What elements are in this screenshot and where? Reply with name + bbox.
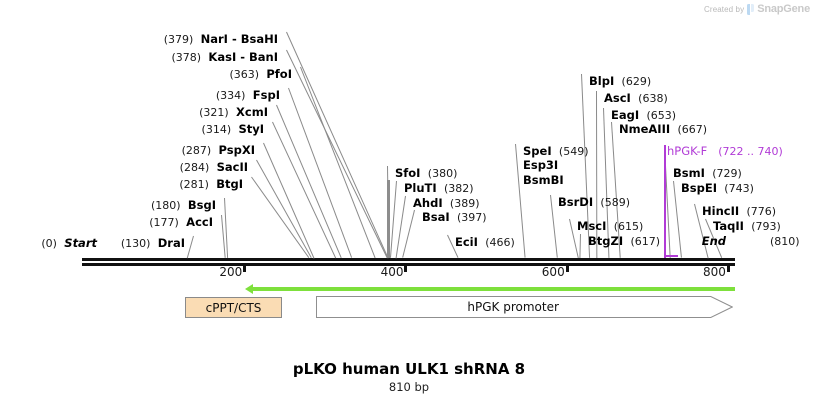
- site-position: (379): [164, 33, 194, 46]
- site-position: (389): [450, 197, 480, 210]
- plasmid-length: 810 bp: [0, 380, 818, 394]
- site-position: (667): [677, 123, 707, 136]
- site-name: HincII: [702, 204, 739, 218]
- restriction-site-label: AhdI (389): [413, 198, 480, 210]
- site-position: (653): [646, 109, 676, 122]
- site-name: BspEI: [681, 181, 717, 195]
- site-position: (380): [428, 167, 458, 180]
- site-position: (363): [229, 68, 259, 81]
- ruler-tick-label: 200: [219, 265, 242, 279]
- site-name: BsmI: [673, 166, 705, 180]
- start-position: (0): [41, 237, 57, 250]
- site-position: (743): [724, 182, 754, 195]
- site-leader-line: [187, 236, 194, 258]
- ruler-tick-label: 800: [703, 265, 726, 279]
- site-leader-line: [256, 160, 312, 258]
- site-position: (177): [149, 216, 179, 229]
- restriction-site-label: BsaI (397): [422, 212, 487, 224]
- restriction-site-label: (321) XcmI: [199, 107, 268, 119]
- ruler-tick: [243, 264, 246, 272]
- site-position: (382): [444, 182, 474, 195]
- site-position: (793): [751, 220, 781, 233]
- site-leader-line: [300, 67, 376, 258]
- primer-name: hPGK-F: [667, 144, 707, 158]
- restriction-site-label: BsmI (729): [673, 168, 742, 180]
- site-name: BtgZI: [588, 234, 623, 248]
- end-position-label: (810): [770, 236, 800, 248]
- site-leader-line: [276, 105, 342, 258]
- restriction-site-label: (180) BsgI: [151, 200, 216, 212]
- site-position: (284): [180, 161, 210, 174]
- ruler-tick: [404, 264, 407, 272]
- restriction-site-label: (287) PspXI: [182, 145, 255, 157]
- site-position: (617): [630, 235, 660, 248]
- site-leader-line: [579, 234, 581, 258]
- plasmid-map: Created by SnapGene 200400600800(379) Na…: [0, 0, 818, 400]
- restriction-site-label: BsrDI (589): [558, 197, 630, 209]
- site-position: (334): [216, 89, 246, 102]
- restriction-site-label: EagI (653): [611, 110, 676, 122]
- restriction-site-label: Esp3I: [523, 160, 558, 172]
- snapgene-logo-icon: [747, 4, 754, 15]
- restriction-site-label: SpeI (549): [523, 146, 589, 158]
- restriction-site-label: SfoI (380): [395, 168, 457, 180]
- restriction-site-label: (130) DraI: [121, 238, 185, 250]
- restriction-site-label: (177) AccI: [149, 217, 213, 229]
- site-name: PspXI: [219, 143, 255, 157]
- site-name: XcmI: [236, 105, 268, 119]
- site-name: BlpI: [589, 74, 614, 88]
- restriction-site-label: (284) SacII: [180, 162, 248, 174]
- feature-hpgk-promoter[interactable]: hPGK promoter: [316, 296, 733, 318]
- site-name: MscI: [577, 219, 606, 233]
- primer-leader-line: [664, 145, 666, 258]
- restriction-site-label: (281) BtgI: [179, 179, 243, 191]
- site-name: NarI - BsaHI: [201, 32, 278, 46]
- site-position: (549): [559, 145, 589, 158]
- site-name: NmeAIII: [619, 122, 670, 136]
- site-name: FspI: [253, 88, 280, 102]
- site-name: AscI: [604, 91, 631, 105]
- restriction-site-label: PluTI (382): [404, 183, 474, 195]
- site-position: (314): [202, 123, 232, 136]
- end-label: End: [702, 236, 726, 248]
- snapgene-credit: Created by SnapGene: [704, 3, 810, 15]
- site-name: Esp3I: [523, 158, 558, 172]
- site-leader-line: [402, 210, 415, 258]
- restriction-site-label: (314) StyI: [202, 124, 264, 136]
- ruler-tick: [727, 264, 730, 272]
- restriction-site-label: BlpI (629): [589, 76, 651, 88]
- restriction-site-label: (334) FspI: [216, 90, 280, 102]
- site-name: BsgI: [188, 198, 216, 212]
- site-leader-line: [251, 177, 309, 259]
- site-leader-line: [390, 181, 397, 258]
- primer-foot-hpgk-f: [664, 255, 678, 257]
- site-position: (729): [712, 167, 742, 180]
- site-leader-line: [286, 50, 388, 258]
- page-title: pLKO human ULK1 shRNA 8: [0, 360, 818, 378]
- feature-label: hPGK promoter: [316, 300, 711, 314]
- site-position: (378): [172, 51, 202, 64]
- site-position: (130): [121, 237, 151, 250]
- site-position: (638): [638, 92, 668, 105]
- feature-cppt-cts[interactable]: cPPT/CTS: [185, 297, 282, 318]
- site-name: BtgI: [216, 177, 243, 191]
- site-name: AhdI: [413, 196, 443, 210]
- site-name: TaqII: [713, 219, 744, 233]
- site-name: StyI: [238, 122, 264, 136]
- ruler-tick-label: 400: [381, 265, 404, 279]
- site-name: PfoI: [266, 67, 292, 81]
- site-name: SpeI: [523, 144, 552, 158]
- end-name: End: [702, 234, 726, 248]
- site-name: BsrDI: [558, 195, 593, 209]
- site-name: KasI - BanI: [208, 50, 278, 64]
- start-label: (0) Start: [41, 238, 97, 250]
- restriction-site-label: BsmBI: [523, 175, 564, 187]
- snapgene-brand: SnapGene: [757, 3, 810, 15]
- restriction-site-label: TaqII (793): [713, 221, 781, 233]
- site-position: (629): [622, 75, 652, 88]
- restriction-site-label: HincII (776): [702, 206, 776, 218]
- green-track-bar: [253, 287, 735, 291]
- site-position: (397): [457, 211, 487, 224]
- site-name: SfoI: [395, 166, 420, 180]
- backbone-line-bottom: [82, 263, 735, 266]
- site-position: (180): [151, 199, 181, 212]
- site-name: EagI: [611, 108, 639, 122]
- site-name: SacII: [217, 160, 248, 174]
- credit-prefix: Created by: [704, 5, 744, 14]
- site-position: (776): [746, 205, 776, 218]
- site-name: DraI: [158, 236, 185, 250]
- restriction-site-label: BtgZI (617): [588, 236, 660, 248]
- restriction-site-label: MscI (615): [577, 221, 643, 233]
- site-name: AccI: [186, 215, 213, 229]
- restriction-site-label: BspEI (743): [681, 183, 754, 195]
- start-name: Start: [64, 236, 97, 250]
- green-track-arrowhead-left: [245, 284, 253, 294]
- site-leader-line: [665, 166, 671, 258]
- site-position: (281): [179, 178, 209, 191]
- site-name: BsmBI: [523, 173, 564, 187]
- restriction-site-label: (363) PfoI: [229, 69, 292, 81]
- ruler-tick-label: 600: [542, 265, 565, 279]
- site-leader-line: [550, 195, 558, 258]
- site-position: (589): [600, 196, 630, 209]
- restriction-site-label: (379) NarI - BsaHI: [164, 34, 278, 46]
- site-position: (321): [199, 106, 229, 119]
- feature-label: cPPT/CTS: [206, 301, 262, 315]
- primer-range: (722 .. 740): [718, 145, 783, 158]
- end-position: (810): [770, 235, 800, 248]
- site-position: (287): [182, 144, 212, 157]
- site-leader-line: [286, 32, 388, 258]
- restriction-site-label: EciI (466): [455, 237, 515, 249]
- site-name: PluTI: [404, 181, 437, 195]
- site-position: (466): [485, 236, 515, 249]
- site-name: BsaI: [422, 210, 450, 224]
- ruler-tick: [566, 264, 569, 272]
- site-position: (615): [614, 220, 644, 233]
- primer-label-hpgk-f: hPGK-F (722 .. 740): [667, 146, 783, 158]
- restriction-site-label: AscI (638): [604, 93, 668, 105]
- restriction-site-label: NmeAIII (667): [619, 124, 707, 136]
- site-name: EciI: [455, 235, 478, 249]
- restriction-site-label: (378) KasI - BanI: [172, 52, 278, 64]
- site-leader-cluster: [387, 180, 390, 258]
